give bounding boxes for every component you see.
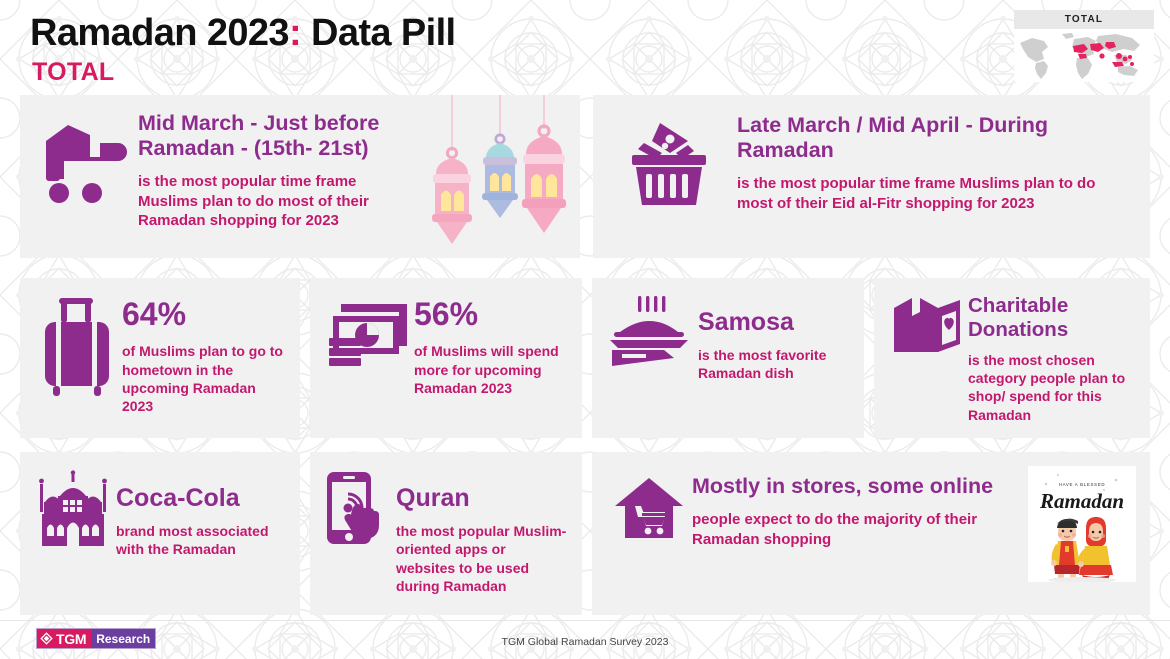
card-body: of Muslims plan to go to hometown in the… <box>122 342 284 415</box>
card-eid-timeframe: Late March / Mid April - During Ramadan … <box>593 95 1150 258</box>
map-badge-label: TOTAL <box>1014 10 1154 29</box>
card-shopping-timeframe: Mid March - Just before Ramadan - (15th-… <box>20 95 580 258</box>
card-hometown-travel: 64% of Muslims plan to go to hometown in… <box>20 278 300 438</box>
page-title-main: Ramadan 2023 <box>30 12 289 54</box>
donation-box-icon <box>886 290 968 366</box>
card-head: Samosa <box>698 308 848 337</box>
card-body: of Muslims will spend more for upcoming … <box>414 342 566 397</box>
mosque-icon <box>30 466 116 550</box>
page-title: Ramadan 2023: Data Pill <box>30 12 456 55</box>
card-head: Quran <box>396 484 568 513</box>
card-body: people expect to do the majority of thei… <box>692 510 1000 549</box>
card-top-app: Quran the most popular Muslim-oriented a… <box>310 452 582 615</box>
card-body: brand most associated with the Ramadan <box>116 522 284 558</box>
card-head: Charitable Donations <box>968 294 1136 342</box>
card-shopping-channel: Mostly in stores, some online people exp… <box>592 452 1150 615</box>
shopping-cart-icon <box>34 111 138 205</box>
smartphone-tap-icon <box>322 466 396 550</box>
footer-divider <box>0 620 1170 621</box>
card-body: is the most popular time frame Muslims p… <box>138 172 420 231</box>
source-note: TGM Global Ramadan Survey 2023 <box>0 636 1170 648</box>
card-stat-value: 56% <box>414 296 566 333</box>
card-body: is the most favorite Ramadan dish <box>698 346 848 382</box>
money-icon <box>322 292 414 376</box>
card-stat-value: 64% <box>122 296 284 333</box>
store-cart-icon <box>606 474 692 542</box>
card-body: is the most popular time frame Muslims p… <box>737 174 1120 213</box>
card-head: Coca-Cola <box>116 484 284 513</box>
svg-text:HAVE A BLESSED: HAVE A BLESSED <box>1059 482 1106 487</box>
suitcase-icon <box>32 292 122 400</box>
page-title-tail: Data Pill <box>301 12 456 54</box>
ramadan-kids-illustration: HAVE A BLESSED Ramadan <box>1028 466 1136 582</box>
card-favorite-dish: Samosa is the most favorite Ramadan dish <box>592 278 864 438</box>
served-plate-icon <box>604 290 698 368</box>
card-head: Late March / Mid April - During Ramadan <box>737 113 1120 163</box>
total-map-badge: TOTAL <box>1014 10 1154 82</box>
shopping-basket-icon <box>607 113 737 209</box>
card-head: Mostly in stores, some online <box>692 474 1000 499</box>
card-top-category: Charitable Donations is the most chosen … <box>874 278 1150 438</box>
svg-text:Ramadan: Ramadan <box>1039 489 1124 513</box>
card-body: the most popular Muslim-oriented apps or… <box>396 522 568 595</box>
page-title-colon: : <box>289 12 301 54</box>
card-top-brand: Coca-Cola brand most associated with the… <box>20 452 300 615</box>
card-head: Mid March - Just before Ramadan - (15th-… <box>138 111 420 161</box>
card-body: is the most chosen category people plan … <box>968 351 1136 424</box>
page-subtitle: TOTAL <box>32 58 115 87</box>
world-map-icon <box>1014 29 1154 82</box>
card-spend-more: 56% of Muslims will spend more for upcom… <box>310 278 582 438</box>
source-note-text: TGM Global Ramadan Survey 2023 <box>502 636 669 648</box>
